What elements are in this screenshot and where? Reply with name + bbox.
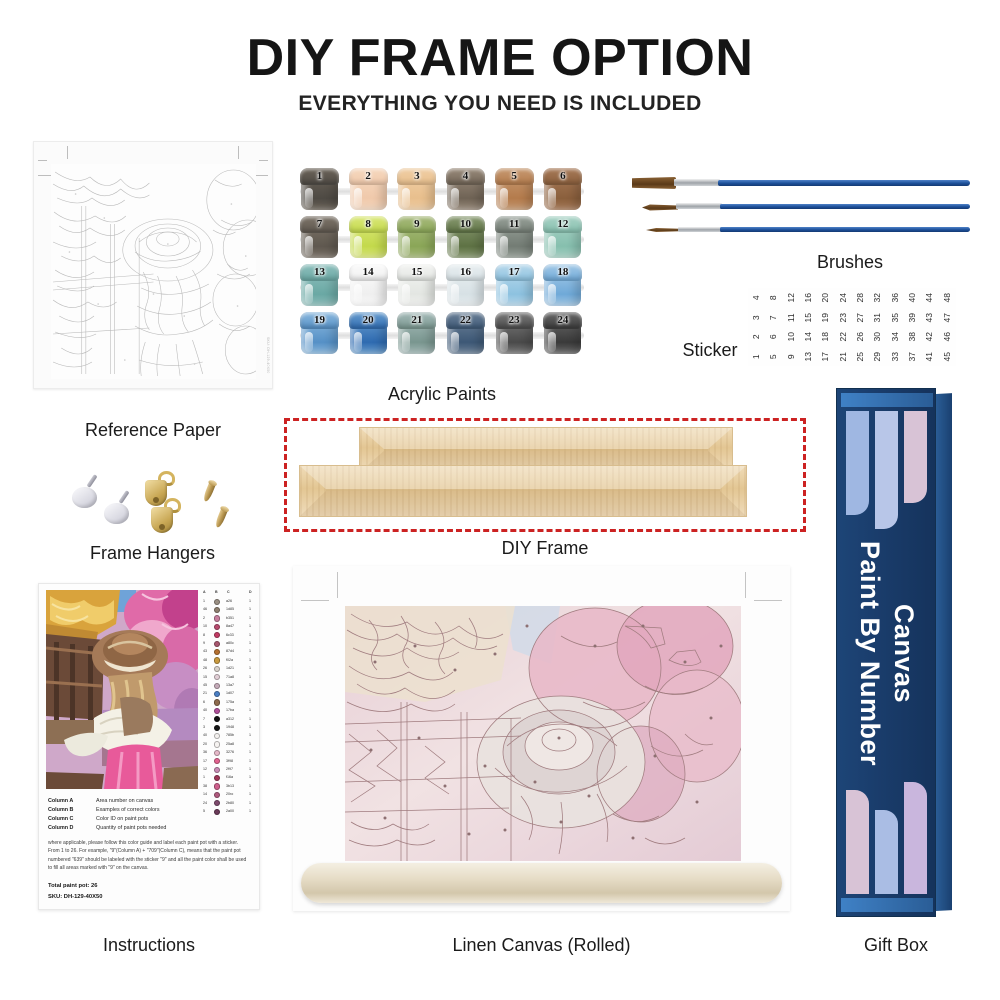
paint-pot-gloss xyxy=(305,284,313,304)
paint-pot-18: 18 xyxy=(542,264,583,308)
legend-color-id: 1d85 xyxy=(226,607,234,611)
paint-pot-gloss xyxy=(500,284,508,304)
paint-pot-number: 23 xyxy=(494,313,535,328)
sticker-number-48: 48 xyxy=(938,289,958,306)
legend-quantity: 1 xyxy=(249,733,251,737)
sticker-column: 36353433 xyxy=(887,288,904,366)
paint-pot-number: 2 xyxy=(348,169,389,184)
legend-row: 2025a81 xyxy=(202,741,256,748)
legend-color-swatch xyxy=(214,649,220,655)
paint-pot-number: 3 xyxy=(396,169,437,184)
legend-header-row: A B C D xyxy=(202,590,256,597)
legend-quantity: 1 xyxy=(249,784,251,788)
sticker-number-32: 32 xyxy=(868,289,888,306)
paint-pot-number: 14 xyxy=(348,265,389,280)
legend-quantity: 1 xyxy=(249,708,251,712)
sticker-number-17: 17 xyxy=(816,348,836,365)
legend-row: 461d851 xyxy=(202,606,256,613)
caption-reference-paper: Reference Paper xyxy=(33,420,273,441)
legend-area-number: 15 xyxy=(203,675,207,679)
legend-area-number: 48 xyxy=(203,658,207,662)
brushes-group xyxy=(618,176,970,248)
legend-quantity: 1 xyxy=(249,675,251,679)
legend-quantity: 1 xyxy=(249,683,251,687)
paint-pot-12: 12 xyxy=(542,216,583,260)
paint-pot-gloss xyxy=(500,332,508,352)
legend-color-id: 87d4 xyxy=(226,649,234,653)
instructions-color-legend: A B C D 1a261461d8512b3511108a47186c3319… xyxy=(202,590,256,818)
legend-area-number: 40 xyxy=(203,708,207,712)
paint-pot-1: 1 xyxy=(299,168,340,212)
legend-color-swatch xyxy=(214,758,220,764)
paint-pot-22: 22 xyxy=(445,312,486,356)
legend-quantity: 1 xyxy=(249,742,251,746)
legend-area-number: 46 xyxy=(203,607,207,611)
sticker-number-43: 43 xyxy=(920,309,940,326)
reference-line-art xyxy=(51,164,256,379)
legend-quantity: 1 xyxy=(249,633,251,637)
caption-sticker: Sticker xyxy=(640,340,780,361)
instructions-key-label: Column B xyxy=(48,807,73,813)
paint-pot-row: 789101112 xyxy=(296,216,588,260)
paint-pot-17: 17 xyxy=(494,264,535,308)
legend-row: 4017ba1 xyxy=(202,707,256,714)
legend-quantity: 1 xyxy=(249,607,251,611)
instructions-key-row: Column CColor ID on paint pots xyxy=(48,816,253,825)
legend-color-swatch xyxy=(214,741,220,747)
instructions-key-row: Column DQuantity of paint pots needed xyxy=(48,825,253,834)
legend-row: 1f16a1 xyxy=(202,774,256,781)
paint-pot-number: 4 xyxy=(445,169,486,184)
page-subtitle: EVERYTHING YOU NEED IS INCLUDED xyxy=(0,92,1000,116)
paint-pot-gloss xyxy=(354,332,362,352)
paint-pot-5: 5 xyxy=(494,168,535,212)
product-infographic: DIY FRAME OPTION EVERYTHING YOU NEED IS … xyxy=(0,0,1000,1000)
sticker-column: 28272625 xyxy=(852,288,869,366)
legend-color-id: f16a xyxy=(226,775,233,779)
paint-pot-gloss xyxy=(451,284,459,304)
legend-color-swatch xyxy=(214,708,220,714)
legend-color-swatch xyxy=(214,767,220,773)
caption-gift-box: Gift Box xyxy=(836,935,956,956)
legend-row: 383b131 xyxy=(202,783,256,790)
legend-area-number: 45 xyxy=(203,683,207,687)
legend-row: 9a80c1 xyxy=(202,640,256,647)
caption-linen-canvas: Linen Canvas (Rolled) xyxy=(293,935,790,956)
legend-color-swatch xyxy=(214,641,220,647)
paint-pot-gloss xyxy=(354,188,362,208)
paint-pot-number: 5 xyxy=(494,169,535,184)
legend-color-id: f02a xyxy=(226,658,233,662)
paint-pot-number: 21 xyxy=(396,313,437,328)
instructions-artwork xyxy=(46,590,198,789)
legend-area-number: 6 xyxy=(203,700,205,704)
sticker-number-46: 46 xyxy=(938,328,958,345)
paint-pot-number: 6 xyxy=(542,169,583,184)
legend-color-swatch xyxy=(214,691,220,697)
legend-row: 122f971 xyxy=(202,766,256,773)
paint-pot-gloss xyxy=(500,236,508,256)
reference-paper-code: SKU: DH-129-40X50 xyxy=(266,337,270,374)
legend-color-id: 6c33 xyxy=(226,633,234,637)
legend-color-id: 3b13 xyxy=(226,784,234,788)
paint-pot-gloss xyxy=(451,332,459,352)
paint-pot-9: 9 xyxy=(396,216,437,260)
legend-row: 2b3511 xyxy=(202,615,256,622)
legend-row: 48f02a1 xyxy=(202,657,256,664)
sticker-number-7: 7 xyxy=(764,309,784,326)
paint-pot-row: 192021222324 xyxy=(296,312,588,356)
paint-pot-15: 15 xyxy=(396,264,437,308)
legend-row: 108a471 xyxy=(202,623,256,630)
legend-color-id: 1d07 xyxy=(226,691,234,695)
paint-pot-4: 4 xyxy=(445,168,486,212)
caption-acrylic-paints: Acrylic Paints xyxy=(296,384,588,405)
legend-quantity: 1 xyxy=(249,725,251,729)
paint-pot-2: 2 xyxy=(348,168,389,212)
legend-row: 1a261 xyxy=(202,598,256,605)
sticker-column: 48474645 xyxy=(939,288,956,366)
sticker-number-31: 31 xyxy=(868,309,888,326)
sticker-number-18: 18 xyxy=(816,328,836,345)
paint-pot-number: 20 xyxy=(348,313,389,328)
canvas-roll xyxy=(301,863,782,903)
paint-pot-number: 7 xyxy=(299,217,340,232)
legend-color-id: 13a7 xyxy=(226,683,234,687)
legend-area-number: 20 xyxy=(203,742,207,746)
paint-pot-number: 18 xyxy=(542,265,583,280)
sticker-number-44: 44 xyxy=(920,289,940,306)
legend-color-swatch xyxy=(214,666,220,672)
paint-pot-row: 131415161718 xyxy=(296,264,588,308)
legend-quantity: 1 xyxy=(249,767,251,771)
legend-color-id: 25a8 xyxy=(226,742,234,746)
instructions-key-label: Column A xyxy=(48,798,73,804)
legend-area-number: 3 xyxy=(203,725,205,729)
legend-color-swatch xyxy=(214,725,220,731)
legend-color-swatch xyxy=(214,750,220,756)
legend-area-number: 1 xyxy=(203,775,205,779)
legend-row: 4387d41 xyxy=(202,648,256,655)
paint-pot-8: 8 xyxy=(348,216,389,260)
legend-color-swatch xyxy=(214,674,220,680)
legend-area-number: 9 xyxy=(203,641,205,645)
legend-quantity: 1 xyxy=(249,691,251,695)
legend-color-id: 17ba xyxy=(226,708,234,712)
paint-pot-number: 11 xyxy=(494,217,535,232)
paint-pot-number: 10 xyxy=(445,217,486,232)
caption-diy-frame: DIY Frame xyxy=(284,538,806,559)
sticker-number-20: 20 xyxy=(816,289,836,306)
paint-pot-gloss xyxy=(451,188,459,208)
sticker-number-19: 19 xyxy=(816,309,836,326)
page-title: DIY FRAME OPTION xyxy=(0,28,1000,88)
legend-quantity: 1 xyxy=(249,792,251,796)
instructions-key-value: Color ID on paint pots xyxy=(96,816,148,822)
legend-color-swatch xyxy=(214,683,220,689)
legend-color-swatch xyxy=(214,733,220,739)
legend-color-swatch xyxy=(214,615,220,621)
acrylic-paints-group: 123456789101112131415161718192021222324 xyxy=(296,168,588,360)
legend-color-id: a26 xyxy=(226,599,232,603)
legend-quantity: 1 xyxy=(249,616,251,620)
legend-color-id: 3f98 xyxy=(226,759,233,763)
paint-pot-gloss xyxy=(548,236,556,256)
paint-pot-gloss xyxy=(451,236,459,256)
instructions-key-value: Examples of correct colors xyxy=(96,807,160,813)
sticker-number-45: 45 xyxy=(938,348,958,365)
paint-pot-number: 12 xyxy=(542,217,583,232)
sticker-column: 24232221 xyxy=(835,288,852,366)
sticker-column: 40393837 xyxy=(904,288,921,366)
paint-pot-number: 17 xyxy=(494,265,535,280)
legend-row: 3632761 xyxy=(202,749,256,756)
legend-area-number: 10 xyxy=(203,624,207,628)
caption-frame-hangers: Frame Hangers xyxy=(45,543,260,564)
legend-area-number: 1 xyxy=(203,599,205,603)
paint-pot-16: 16 xyxy=(445,264,486,308)
legend-area-number: 38 xyxy=(203,784,207,788)
paint-pot-gloss xyxy=(402,284,410,304)
legend-color-id: a312 xyxy=(226,717,234,721)
legend-quantity: 1 xyxy=(249,666,251,670)
legend-quantity: 1 xyxy=(249,624,251,628)
legend-area-number: 21 xyxy=(203,691,207,695)
paint-pot-6: 6 xyxy=(542,168,583,212)
instructions-key-row: Column BExamples of correct colors xyxy=(48,807,253,816)
sticker-number-8: 8 xyxy=(764,289,784,306)
legend-row: 211d071 xyxy=(202,690,256,697)
paint-pot-gloss xyxy=(548,188,556,208)
legend-quantity: 1 xyxy=(249,759,251,763)
legend-quantity: 1 xyxy=(249,750,251,754)
paint-pot-number: 24 xyxy=(542,313,583,328)
frame-hangers-group xyxy=(66,468,241,538)
frame-bar-bottom xyxy=(299,465,747,517)
paint-pot-number: 9 xyxy=(396,217,437,232)
diy-frame-group xyxy=(284,418,806,532)
paint-pot-gloss xyxy=(402,236,410,256)
sticker-number-42: 42 xyxy=(920,328,940,345)
paint-pot-number: 13 xyxy=(299,265,340,280)
legend-area-number: 36 xyxy=(203,750,207,754)
paint-pot-20: 20 xyxy=(348,312,389,356)
reference-paper-sheet: SKU: DH-129-40X50 xyxy=(33,141,273,389)
legend-area-number: 12 xyxy=(203,767,207,771)
paint-pot-14: 14 xyxy=(348,264,389,308)
legend-color-id: 1d21 xyxy=(226,666,234,670)
paint-pot-gloss xyxy=(548,284,556,304)
paint-pot-number: 15 xyxy=(396,265,437,280)
legend-area-number: 14 xyxy=(203,792,207,796)
legend-quantity: 1 xyxy=(249,641,251,645)
paint-pot-row: 123456 xyxy=(296,168,588,212)
instructions-key-label: Column C xyxy=(48,816,73,822)
paint-pot-number: 16 xyxy=(445,265,486,280)
instructions-paragraph: where applicable, please follow this col… xyxy=(48,839,251,873)
legend-color-swatch xyxy=(214,607,220,613)
legend-row: 261d211 xyxy=(202,665,256,672)
legend-color-id: 1948 xyxy=(226,725,234,729)
sticker-column: 44434241 xyxy=(921,288,938,366)
sticker-column: 1211109 xyxy=(783,288,800,366)
caption-brushes: Brushes xyxy=(760,252,940,273)
legend-color-id: 785b xyxy=(226,733,234,737)
legend-color-swatch xyxy=(214,699,220,705)
legend-color-swatch xyxy=(214,783,220,789)
legend-color-swatch xyxy=(214,599,220,605)
sticker-number-30: 30 xyxy=(868,328,888,345)
paint-pot-number: 1 xyxy=(299,169,340,184)
instructions-key-row: Column AArea number on canvas xyxy=(48,798,253,807)
paint-pot-gloss xyxy=(500,188,508,208)
paint-pot-gloss xyxy=(305,332,313,352)
paint-pot-3: 3 xyxy=(396,168,437,212)
paint-pot-number: 19 xyxy=(299,313,340,328)
legend-quantity: 1 xyxy=(249,649,251,653)
gift-box-title-text: Canvas Paint By Number xyxy=(853,541,921,766)
paint-pot-gloss xyxy=(305,188,313,208)
legend-color-id: 2f97 xyxy=(226,767,233,771)
paint-pot-gloss xyxy=(548,332,556,352)
paint-pot-gloss xyxy=(305,236,313,256)
legend-area-number: 26 xyxy=(203,666,207,670)
sticker-column: 20191817 xyxy=(817,288,834,366)
paint-pot-11: 11 xyxy=(494,216,535,260)
legend-color-id: 3276 xyxy=(226,750,234,754)
paint-pot-21: 21 xyxy=(396,312,437,356)
sticker-number-29: 29 xyxy=(868,348,888,365)
legend-row: 40785b1 xyxy=(202,732,256,739)
legend-quantity: 1 xyxy=(249,658,251,662)
legend-quantity: 1 xyxy=(249,599,251,603)
paint-pot-13: 13 xyxy=(299,264,340,308)
legend-quantity: 1 xyxy=(249,700,251,704)
gift-box-title: Canvas Paint By Number xyxy=(837,389,937,918)
legend-area-number: 8 xyxy=(203,633,205,637)
legend-quantity: 1 xyxy=(249,717,251,721)
legend-area-number: 17 xyxy=(203,759,207,763)
sticker-column: 32313029 xyxy=(869,288,886,366)
legend-color-swatch xyxy=(214,716,220,722)
linen-canvas xyxy=(293,566,790,911)
instructions-card: A B C D 1a261461d8512b3511108a47186c3319… xyxy=(38,583,260,910)
legend-color-swatch xyxy=(214,775,220,781)
paint-pot-24: 24 xyxy=(542,312,583,356)
legend-row: 1571a81 xyxy=(202,674,256,681)
screw-1 xyxy=(202,479,217,502)
paint-pot-23: 23 xyxy=(494,312,535,356)
gift-box: Canvas Paint By Number xyxy=(836,388,952,917)
legend-row: 4513a71 xyxy=(202,682,256,689)
legend-color-id: 71a8 xyxy=(226,675,234,679)
legend-color-id: a80c xyxy=(226,641,234,645)
screw-2 xyxy=(214,505,229,528)
canvas-printed-outline xyxy=(345,606,741,861)
paint-pot-number: 8 xyxy=(348,217,389,232)
legend-color-id: 8a47 xyxy=(226,624,234,628)
legend-color-id: 175a xyxy=(226,700,234,704)
legend-color-id: b351 xyxy=(226,616,234,620)
legend-area-number: 40 xyxy=(203,733,207,737)
legend-row: 7a3121 xyxy=(202,716,256,723)
instructions-key-value: Area number on canvas xyxy=(96,798,153,804)
paint-pot-gloss xyxy=(354,284,362,304)
instructions-key-label: Column D xyxy=(48,825,73,831)
legend-area-number: 7 xyxy=(203,717,205,721)
legend-quantity: 1 xyxy=(249,775,251,779)
caption-instructions: Instructions xyxy=(38,935,260,956)
legend-area-number: 43 xyxy=(203,649,207,653)
legend-row: 319481 xyxy=(202,724,256,731)
legend-row: 86c331 xyxy=(202,632,256,639)
sticker-column: 16151413 xyxy=(800,288,817,366)
paint-pot-10: 10 xyxy=(445,216,486,260)
sku-text: SKU: DH-129-40X50 xyxy=(48,894,102,900)
legend-row: 6175a1 xyxy=(202,699,256,706)
gift-box-spine xyxy=(936,393,952,911)
paint-pot-7: 7 xyxy=(299,216,340,260)
legend-color-id: 20ro xyxy=(226,792,233,796)
paint-pot-19: 19 xyxy=(299,312,340,356)
sticker-number-47: 47 xyxy=(938,309,958,326)
paint-pot-gloss xyxy=(402,332,410,352)
legend-row: 173f981 xyxy=(202,758,256,765)
legend-area-number: 2 xyxy=(203,616,205,620)
total-paint-pot: Total paint pot: 26 xyxy=(48,883,98,889)
gift-box-face: Canvas Paint By Number xyxy=(836,388,936,917)
paint-pot-gloss xyxy=(354,236,362,256)
paint-pot-gloss xyxy=(402,188,410,208)
legend-color-swatch xyxy=(214,624,220,630)
instructions-column-key: Column AArea number on canvasColumn BExa… xyxy=(48,798,253,834)
legend-color-swatch xyxy=(214,657,220,663)
legend-color-swatch xyxy=(214,632,220,638)
sticker-number-41: 41 xyxy=(920,348,940,365)
instructions-key-value: Quantity of paint pots needed xyxy=(96,825,166,831)
paint-pot-number: 22 xyxy=(445,313,486,328)
